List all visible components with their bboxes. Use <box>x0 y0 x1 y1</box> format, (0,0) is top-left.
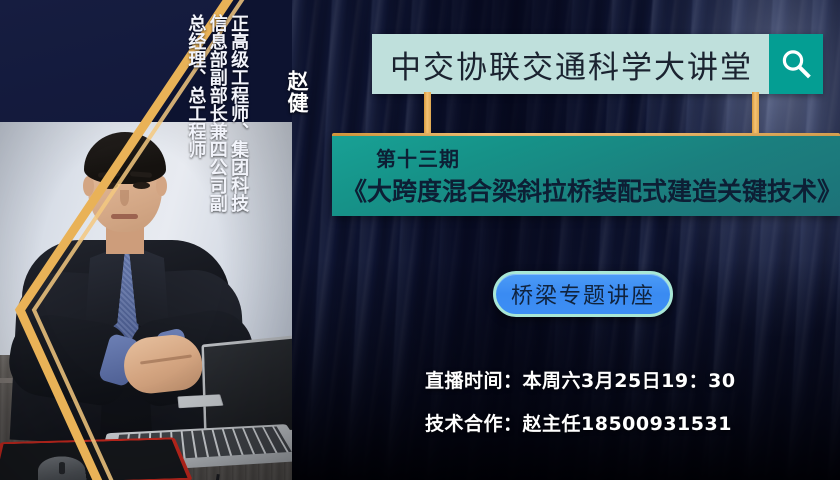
credential-line-2: 信息部副部长兼四公司副 <box>207 14 225 212</box>
issue-number: 第十三期 <box>376 143 460 172</box>
subtitle-panel: 第十三期 《大跨度混合梁斜拉桥装配式建造关键技术》 <box>332 136 840 216</box>
broadcast-time: 直播时间：本周六3月25日19：30 <box>425 366 736 393</box>
speaker-name: 赵健 <box>286 70 308 114</box>
category-pill-label: 桥梁专题讲座 <box>511 278 655 310</box>
brand-banner-title: 中交协联交通科学大讲堂 <box>372 34 769 94</box>
credential-line-3: 总经理、总工程师 <box>186 14 204 212</box>
lecture-title: 《大跨度混合梁斜拉桥装配式建造关键技术》 <box>342 172 836 208</box>
contact-info: 技术合作：赵主任18500931531 <box>425 409 732 436</box>
category-pill[interactable]: 桥梁专题讲座 <box>493 271 673 317</box>
lecture-poster: 正高级工程师、集团科技 信息部副部长兼四公司副 总经理、总工程师 赵健 中交协联… <box>0 0 840 480</box>
search-icon[interactable] <box>769 34 823 94</box>
credential-line-1: 正高级工程师、集团科技 <box>229 14 247 212</box>
speaker-credentials: 正高级工程师、集团科技 信息部副部长兼四公司副 总经理、总工程师 <box>186 14 247 212</box>
brand-banner[interactable]: 中交协联交通科学大讲堂 <box>372 34 823 94</box>
